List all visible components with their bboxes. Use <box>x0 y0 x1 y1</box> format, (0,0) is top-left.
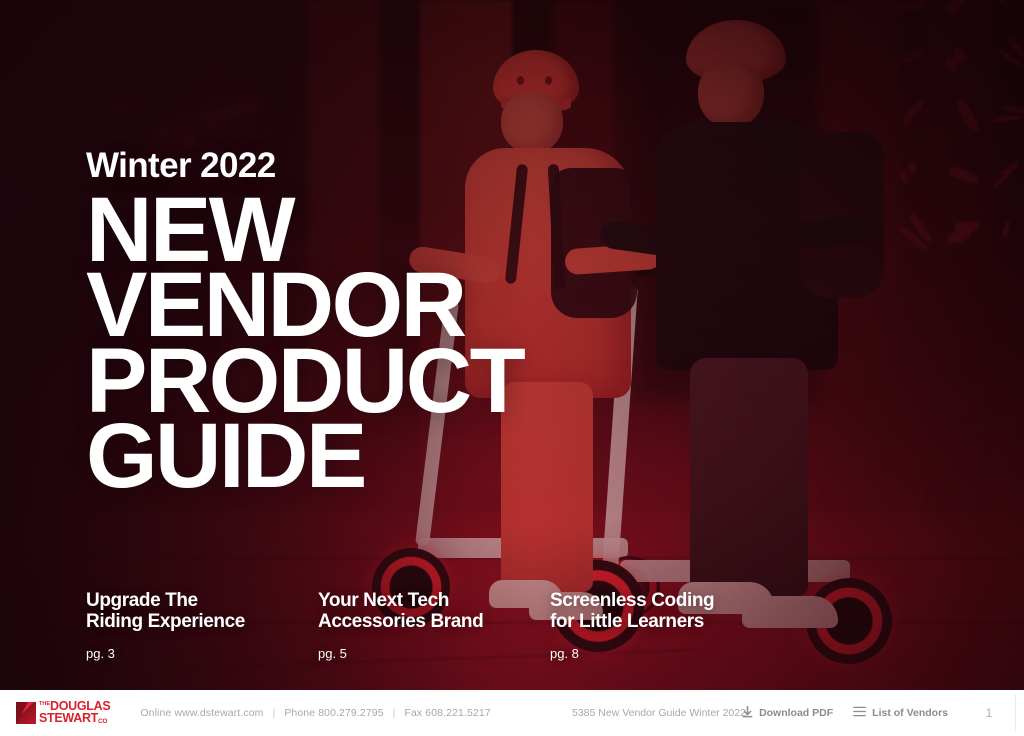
teaser-page-ref: pg. 3 <box>86 646 286 661</box>
contact-online[interactable]: Online www.dstewart.com <box>140 707 263 719</box>
teaser-item[interactable]: Upgrade The Riding Experiencepg. 3 <box>86 590 286 661</box>
cover-artwork: Winter 2022 NEWVENDORPRODUCTGUIDE Upgrad… <box>0 0 1024 690</box>
issue-kicker: Winter 2022 <box>86 148 523 183</box>
contact-separator-2: | <box>393 707 396 719</box>
footer-actions: Download PDF List of Vendors 1 <box>742 706 1002 721</box>
contact-info: Online www.dstewart.com | Phone 800.279.… <box>140 707 490 719</box>
download-pdf-button[interactable]: Download PDF <box>742 706 833 721</box>
hamburger-icon <box>853 706 866 720</box>
contact-phone: Phone 800.279.2795 <box>284 707 383 719</box>
footer-right-divider <box>1015 694 1016 732</box>
logo-the: THE <box>39 701 50 707</box>
page-number: 1 <box>976 706 1002 720</box>
teaser-title: Upgrade The Riding Experience <box>86 590 286 633</box>
teaser-page-ref: pg. 8 <box>550 646 750 661</box>
download-pdf-label: Download PDF <box>759 707 833 719</box>
list-of-vendors-button[interactable]: List of Vendors <box>853 706 948 720</box>
cover-page: Winter 2022 NEWVENDORPRODUCTGUIDE Upgrad… <box>0 0 1024 736</box>
logo-wordmark: THEDOUGLAS STEWARTCO <box>39 701 110 724</box>
cover-text-block: Winter 2022 NEWVENDORPRODUCTGUIDE <box>86 148 523 495</box>
logo-co: CO <box>98 718 107 725</box>
teaser-title: Screenless Coding for Little Learners <box>550 590 750 633</box>
teaser-title: Your Next Tech Accessories Brand <box>318 590 518 633</box>
cover-headline: NEWVENDORPRODUCTGUIDE <box>86 193 523 495</box>
douglas-stewart-logo[interactable]: THEDOUGLAS STEWARTCO <box>16 701 110 724</box>
logo-mark-icon <box>16 702 36 724</box>
document-title: 5385 New Vendor Guide Winter 2022 <box>572 707 746 719</box>
contact-fax: Fax 608.221.5217 <box>404 707 490 719</box>
page-footer: THEDOUGLAS STEWARTCO Online www.dstewart… <box>0 690 1024 736</box>
teaser-item[interactable]: Screenless Coding for Little Learnerspg.… <box>550 590 750 661</box>
teaser-page-ref: pg. 5 <box>318 646 518 661</box>
teaser-list: Upgrade The Riding Experiencepg. 3Your N… <box>86 590 750 661</box>
teaser-item[interactable]: Your Next Tech Accessories Brandpg. 5 <box>318 590 518 661</box>
logo-line2: STEWART <box>39 711 98 725</box>
list-of-vendors-label: List of Vendors <box>872 707 948 719</box>
download-icon <box>742 706 753 721</box>
contact-separator-1: | <box>273 707 276 719</box>
